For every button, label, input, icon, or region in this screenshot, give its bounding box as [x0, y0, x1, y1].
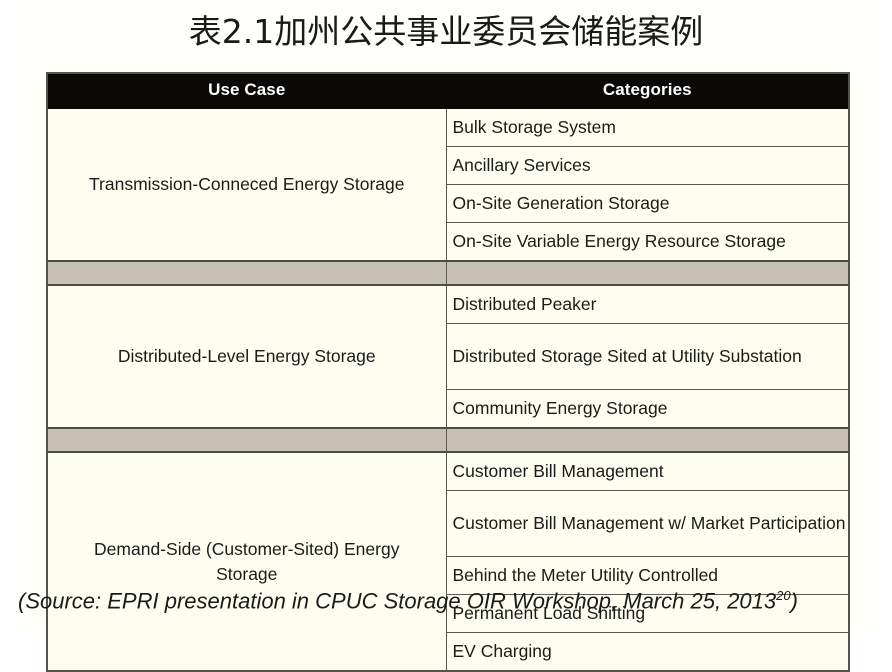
- slide-page: 表2.1加州公共事业委员会储能案例 Use Case Categories Tr…: [0, 0, 892, 629]
- table-row: Distributed-Level Energy Storage Distrib…: [47, 285, 849, 324]
- use-case-cell-distributed: Distributed-Level Energy Storage: [47, 285, 446, 428]
- category-cell: Customer Bill Management: [446, 452, 849, 491]
- cpuc-storage-table-container: Use Case Categories Transmission-Connece…: [46, 72, 848, 672]
- category-cell: Customer Bill Management w/ Market Parti…: [446, 491, 849, 557]
- spacer-cell-left: [47, 428, 446, 452]
- table-row: Demand-Side (Customer-Sited) Energy Stor…: [47, 452, 849, 491]
- source-footnote-marker: 20: [776, 588, 790, 603]
- cpuc-storage-table: Use Case Categories Transmission-Connece…: [46, 72, 850, 672]
- page-title: 表2.1加州公共事业委员会储能案例: [0, 8, 892, 56]
- column-header-categories: Categories: [446, 73, 849, 109]
- left-margin: [0, 0, 14, 629]
- category-cell: Distributed Peaker: [446, 285, 849, 324]
- category-cell: On-Site Generation Storage: [446, 185, 849, 223]
- table-row: Transmission-Conneced Energy Storage Bul…: [47, 109, 849, 147]
- spacer-row: [47, 261, 849, 285]
- use-case-cell-demand-side: Demand-Side (Customer-Sited) Energy Stor…: [47, 452, 446, 671]
- source-closing-paren: ): [791, 588, 798, 613]
- spacer-row: [47, 428, 849, 452]
- spacer-cell-right: [446, 261, 849, 285]
- source-text: (Source: EPRI presentation in CPUC Stora…: [18, 588, 776, 613]
- category-cell: Bulk Storage System: [446, 109, 849, 147]
- category-cell: Distributed Storage Sited at Utility Sub…: [446, 324, 849, 390]
- table-header: Use Case Categories: [47, 73, 849, 109]
- category-cell: Ancillary Services: [446, 147, 849, 185]
- table-body: Transmission-Conneced Energy Storage Bul…: [47, 109, 849, 672]
- table-header-row: Use Case Categories: [47, 73, 849, 109]
- spacer-cell-right: [446, 428, 849, 452]
- column-header-use-case: Use Case: [47, 73, 446, 109]
- spacer-cell-left: [47, 261, 446, 285]
- right-margin: [880, 0, 892, 629]
- use-case-cell-transmission: Transmission-Conneced Energy Storage: [47, 109, 446, 262]
- source-note: (Source: EPRI presentation in CPUC Stora…: [18, 588, 798, 614]
- category-cell: Community Energy Storage: [446, 390, 849, 429]
- category-cell: On-Site Variable Energy Resource Storage: [446, 223, 849, 262]
- category-cell: EV Charging: [446, 633, 849, 672]
